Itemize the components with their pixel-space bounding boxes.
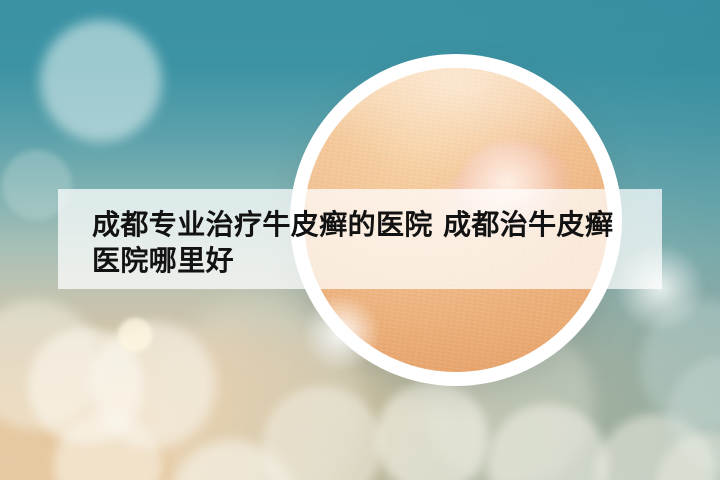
bokeh-left-mid	[0, 300, 100, 430]
bokeh-right-low-3	[596, 414, 716, 480]
bokeh-right-edge-low	[656, 432, 720, 480]
bokeh-bottom-left	[168, 440, 296, 480]
bokeh-sparkle	[118, 318, 152, 352]
bokeh-left-cream-2	[90, 322, 216, 448]
bokeh-right-low-2	[488, 404, 608, 480]
banner-caption: 成都专业治疗牛皮癣的医院 成都治牛皮癣医院哪里好	[92, 207, 632, 279]
light-flare-left-icon	[300, 292, 382, 374]
bokeh-right-low-1	[376, 382, 488, 480]
bokeh-center-low	[262, 386, 382, 480]
bokeh-left-low	[54, 412, 162, 480]
bokeh-far-right	[668, 356, 720, 472]
article-banner-image: 成都专业治疗牛皮癣的医院 成都治牛皮癣医院哪里好	[0, 0, 720, 480]
bokeh-left-cream	[28, 328, 144, 444]
bokeh-top-left-large	[40, 20, 162, 142]
